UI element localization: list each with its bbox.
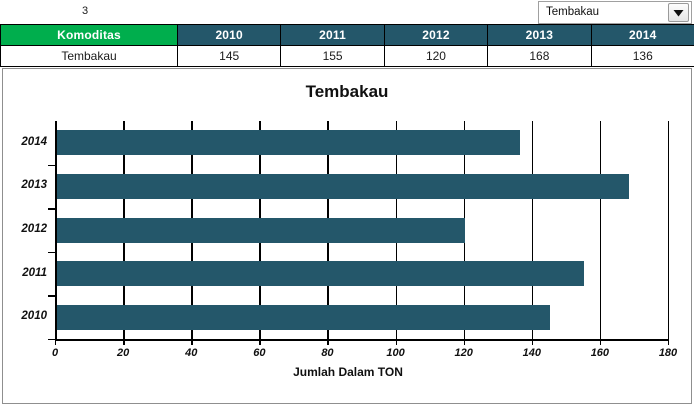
x-axis-tick-label: 100 (376, 347, 416, 359)
table-header-2013: 2013 (488, 25, 591, 46)
table-cell-commodity: Tembakau (1, 46, 178, 67)
x-axis-tick (600, 339, 601, 345)
y-axis-tick-label-2010: 2010 (3, 310, 47, 322)
y-axis-tick-label-2011: 2011 (3, 267, 47, 279)
y-axis-tick-label-2012: 2012 (3, 223, 47, 235)
table-cell-2011: 155 (281, 46, 384, 67)
x-axis-tick-label: 40 (171, 347, 211, 359)
x-gridline (668, 121, 669, 339)
table-header-row: Komoditas 2010 2011 2012 2013 2014 (1, 25, 694, 46)
x-axis-tick-label: 60 (239, 347, 279, 359)
cell-number-value: 3 (40, 3, 130, 19)
y-axis-tick-label-2013: 2013 (3, 179, 47, 191)
x-axis-tick-label: 0 (35, 347, 75, 359)
chevron-down-icon[interactable] (668, 3, 689, 22)
y-axis-tick (48, 252, 56, 253)
y-axis-tick (48, 295, 56, 296)
bar-2010[interactable] (57, 305, 551, 330)
x-axis-tick (464, 339, 465, 345)
commodity-filter-dropdown[interactable]: Tembakau (538, 1, 692, 24)
x-axis-tick-label: 140 (512, 347, 552, 359)
chart-panel[interactable]: Tembakau 0204060801001201401601802010201… (2, 68, 692, 404)
x-axis-tick (396, 339, 397, 345)
table-header-komoditas: Komoditas (1, 25, 178, 46)
bar-2014[interactable] (57, 130, 520, 155)
x-axis-tick-label: 160 (580, 347, 620, 359)
commodity-data-table: Komoditas 2010 2011 2012 2013 2014 Temba… (0, 24, 694, 68)
x-axis-title: Jumlah Dalam TON (3, 365, 693, 379)
x-axis-tick (123, 339, 124, 345)
x-axis-tick-label: 180 (648, 347, 688, 359)
table-cell-2013: 168 (488, 46, 591, 67)
table-row[interactable]: Tembakau 145 155 120 168 136 (1, 46, 694, 67)
x-gridline (600, 121, 601, 339)
x-axis-tick (259, 339, 260, 345)
table-header-2014: 2014 (591, 25, 694, 46)
top-strip: 3 Tembakau (0, 0, 694, 24)
table-header-2010: 2010 (178, 25, 281, 46)
table-header-2011: 2011 (281, 25, 384, 46)
x-axis-tick (191, 339, 192, 345)
table-cell-2014: 136 (591, 46, 694, 67)
commodity-filter-value: Tembakau (539, 2, 668, 23)
bar-2013[interactable] (57, 174, 629, 199)
table-cell-2010: 145 (178, 46, 281, 67)
x-axis-tick-label: 80 (307, 347, 347, 359)
x-axis-tick-label: 20 (103, 347, 143, 359)
table-cell-2012: 120 (384, 46, 487, 67)
y-axis-tick-label-2014: 2014 (3, 136, 47, 148)
chart-plot-area: 0204060801001201401601802010201120122013… (3, 69, 693, 405)
x-axis-tick (668, 339, 669, 345)
y-axis-tick (48, 208, 56, 209)
x-axis-tick-label: 120 (444, 347, 484, 359)
table-header-2012: 2012 (384, 25, 487, 46)
bar-2011[interactable] (57, 261, 585, 286)
bar-2012[interactable] (57, 218, 466, 243)
y-axis-tick (48, 339, 56, 340)
x-axis-tick (327, 339, 328, 345)
spreadsheet-chart-page: 3 Tembakau Komoditas 2010 2011 2012 (0, 0, 694, 406)
x-axis-tick (532, 339, 533, 345)
x-axis-line (55, 339, 668, 341)
y-axis-tick (48, 165, 56, 166)
